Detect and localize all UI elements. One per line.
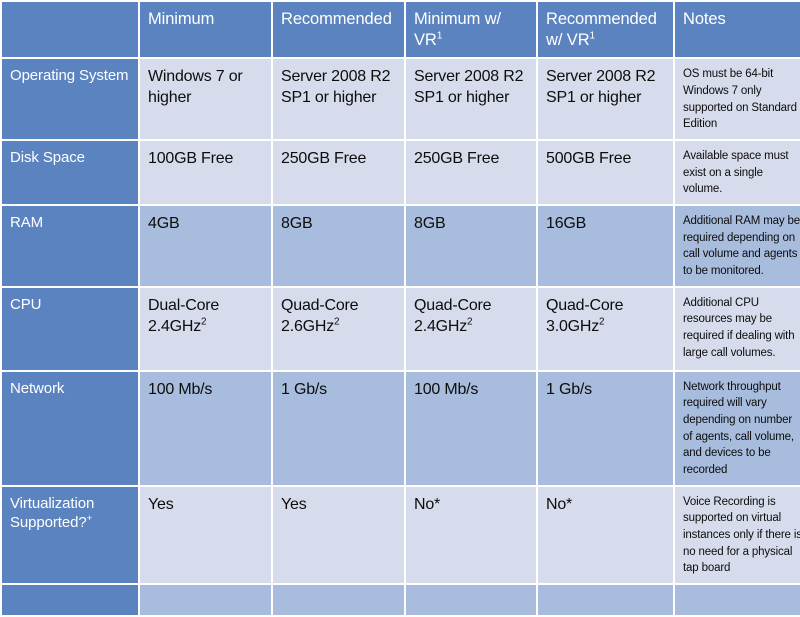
table-row: Disk Space 100GB Free 250GB Free 250GB F… xyxy=(2,141,800,204)
cell-operating-system-minimum: Windows 7 or higher xyxy=(140,59,271,139)
header-blank xyxy=(2,2,138,57)
cell-ram-minimum-vr: 8GB xyxy=(406,206,536,286)
cell-cpu-recommended-vr: Quad-Core 3.0GHz2 xyxy=(538,288,673,370)
cell-disk-space-minimum: 100GB Free xyxy=(140,141,271,204)
table-row: RAM 4GB 8GB 8GB 16GB Additional RAM may … xyxy=(2,206,800,286)
cell-ram-minimum: 4GB xyxy=(140,206,271,286)
table-header-row: Minimum Recommended Minimum w/ VR1 Recom… xyxy=(2,2,800,57)
cell-virtualization-notes: Voice Recording is supported on virtual … xyxy=(675,487,800,583)
header-recommended-vr-footnote: 1 xyxy=(590,31,596,42)
cell-cpu-minimum-vr: Quad-Core 2.4GHz2 xyxy=(406,288,536,370)
header-notes: Notes xyxy=(675,2,800,57)
cell-operating-system-notes: OS must be 64-bit Windows 7 only support… xyxy=(675,59,800,139)
trailing-row-label-cell xyxy=(2,585,138,615)
table-row: Virtualization Supported?+ Yes Yes No* N… xyxy=(2,487,800,583)
cell-ram-recommended-vr: 16GB xyxy=(538,206,673,286)
header-recommended-vr-label: Recommended w/ VR xyxy=(546,10,657,49)
cell-disk-space-minimum-vr: 250GB Free xyxy=(406,141,536,204)
trailing-cell-recommended-vr xyxy=(538,585,673,615)
cpu-recommended-vr-footnote: 2 xyxy=(599,316,604,327)
system-requirements-table: Minimum Recommended Minimum w/ VR1 Recom… xyxy=(0,0,800,617)
cell-virtualization-recommended-vr: No* xyxy=(538,487,673,583)
header-recommended-vr: Recommended w/ VR1 xyxy=(538,2,673,57)
cell-virtualization-recommended: Yes xyxy=(273,487,404,583)
cell-virtualization-minimum-vr: No* xyxy=(406,487,536,583)
header-notes-label: Notes xyxy=(683,10,726,28)
cell-network-minimum: 100 Mb/s xyxy=(140,372,271,485)
header-recommended-label: Recommended xyxy=(281,10,392,28)
table-row: CPU Dual-Core 2.4GHz2 Quad-Core 2.6GHz2 … xyxy=(2,288,800,370)
row-label-virtualization-supported: Virtualization Supported?+ xyxy=(2,487,138,583)
cell-operating-system-recommended: Server 2008 R2 SP1 or higher xyxy=(273,59,404,139)
cell-network-notes: Network throughput required will vary de… xyxy=(675,372,800,485)
cell-cpu-recommended: Quad-Core 2.6GHz2 xyxy=(273,288,404,370)
trailing-cell-minimum-vr xyxy=(406,585,536,615)
trailing-cell-recommended xyxy=(273,585,404,615)
header-minimum-vr-label: Minimum w/ VR xyxy=(414,10,501,49)
cell-network-recommended: 1 Gb/s xyxy=(273,372,404,485)
table-row: Operating System Windows 7 or higher Ser… xyxy=(2,59,800,139)
row-label-disk-space: Disk Space xyxy=(2,141,138,204)
cpu-minimum-vr-footnote: 2 xyxy=(467,316,472,327)
cell-cpu-notes: Additional CPU resources may be required… xyxy=(675,288,800,370)
trailing-cell-minimum xyxy=(140,585,271,615)
virtualization-footnote: + xyxy=(87,513,92,523)
header-recommended: Recommended xyxy=(273,2,404,57)
cell-ram-recommended: 8GB xyxy=(273,206,404,286)
cell-ram-notes: Additional RAM may be required depending… xyxy=(675,206,800,286)
cell-disk-space-recommended: 250GB Free xyxy=(273,141,404,204)
cell-cpu-minimum: Dual-Core 2.4GHz2 xyxy=(140,288,271,370)
cell-disk-space-recommended-vr: 500GB Free xyxy=(538,141,673,204)
row-label-network: Network xyxy=(2,372,138,485)
cell-disk-space-notes: Available space must exist on a single v… xyxy=(675,141,800,204)
header-minimum: Minimum xyxy=(140,2,271,57)
cell-operating-system-recommended-vr: Server 2008 R2 SP1 or higher xyxy=(538,59,673,139)
cell-operating-system-minimum-vr: Server 2008 R2 SP1 or higher xyxy=(406,59,536,139)
header-minimum-vr-footnote: 1 xyxy=(437,31,443,42)
cpu-minimum-footnote: 2 xyxy=(201,316,206,327)
table-row: Network 100 Mb/s 1 Gb/s 100 Mb/s 1 Gb/s … xyxy=(2,372,800,485)
table-trailing-row xyxy=(2,585,800,615)
trailing-cell-notes xyxy=(675,585,800,615)
header-minimum-vr: Minimum w/ VR1 xyxy=(406,2,536,57)
header-minimum-label: Minimum xyxy=(148,10,214,28)
cpu-recommended-footnote: 2 xyxy=(334,316,339,327)
cell-network-recommended-vr: 1 Gb/s xyxy=(538,372,673,485)
cell-network-minimum-vr: 100 Mb/s xyxy=(406,372,536,485)
row-label-ram: RAM xyxy=(2,206,138,286)
row-label-operating-system: Operating System xyxy=(2,59,138,139)
row-label-cpu: CPU xyxy=(2,288,138,370)
cell-virtualization-minimum: Yes xyxy=(140,487,271,583)
